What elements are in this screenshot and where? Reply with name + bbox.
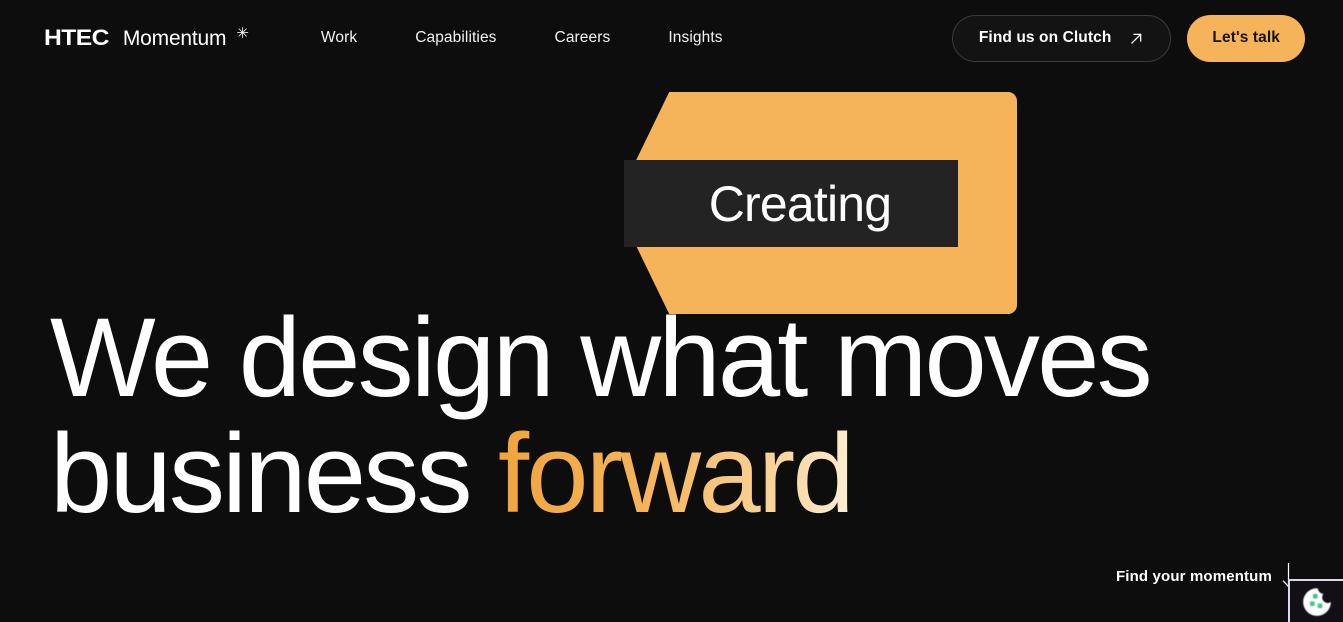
logo[interactable]: HTEC Momentum ✳ — [44, 25, 249, 51]
asterisk-icon: ✳ — [236, 24, 249, 42]
nav-item-careers[interactable]: Careers — [555, 21, 611, 55]
headline-accent-text: forward — [498, 411, 852, 536]
logo-mark: HTEC — [44, 25, 109, 51]
nav-item-insights[interactable]: Insights — [668, 21, 722, 55]
site-header: HTEC Momentum ✳ Work Capabilities Career… — [0, 0, 1343, 76]
cookie-icon — [1300, 585, 1334, 619]
hero-headline: We design what moves business forward — [50, 300, 1150, 532]
header-actions: Find us on Clutch Let's talk — [952, 15, 1305, 62]
scroll-cue-label: Find your momentum — [1116, 568, 1272, 585]
hero-decor-card: Creating — [624, 92, 1017, 314]
nav-item-work[interactable]: Work — [321, 21, 357, 55]
headline-line-2: business forward — [50, 416, 1150, 532]
find-us-on-clutch-button[interactable]: Find us on Clutch — [952, 15, 1172, 62]
headline-line-1: We design what moves — [50, 300, 1150, 416]
headline-plain-text: business — [50, 411, 498, 536]
nav-item-capabilities[interactable]: Capabilities — [415, 21, 496, 55]
main-nav: Work Capabilities Careers Insights — [321, 21, 723, 55]
logo-word: Momentum — [123, 27, 226, 51]
lets-talk-button[interactable]: Let's talk — [1187, 15, 1305, 62]
clutch-button-label: Find us on Clutch — [979, 29, 1112, 47]
card-dark-band: Creating — [624, 160, 958, 248]
find-your-momentum-cue[interactable]: Find your momentum — [1116, 563, 1295, 589]
arrow-up-right-icon — [1129, 31, 1144, 46]
card-word-label: Creating — [691, 179, 892, 229]
cookie-settings-button[interactable] — [1288, 579, 1343, 622]
